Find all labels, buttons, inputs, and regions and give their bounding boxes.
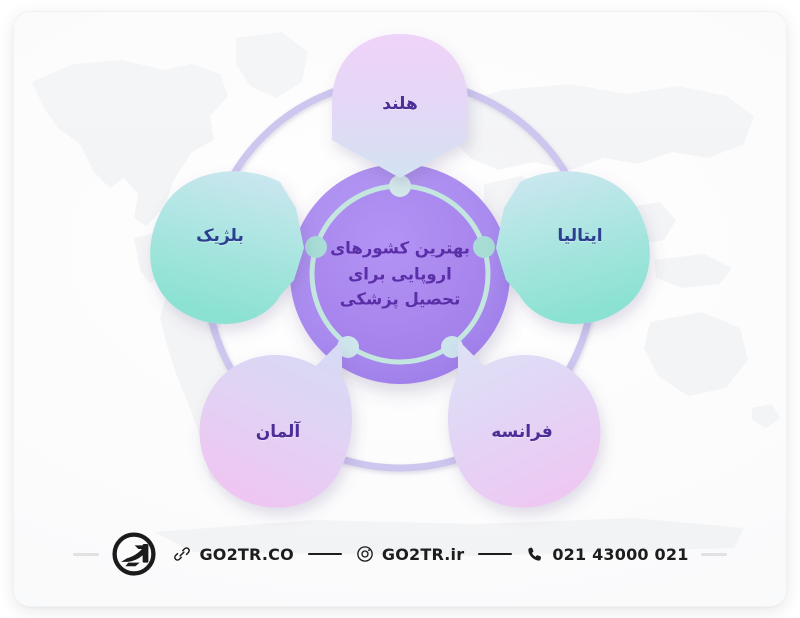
footer-rule-right	[701, 553, 727, 556]
node-netherlands[interactable]	[332, 34, 468, 178]
node-italy[interactable]	[496, 171, 650, 324]
node-germany[interactable]	[199, 340, 352, 508]
footer-item-phone[interactable]: 021 43000 021	[526, 545, 688, 564]
footer-website-text: GO2TR.CO	[199, 545, 293, 564]
vertex-dot-top	[389, 175, 411, 197]
footer-instagram-text: GO2TR.ir	[382, 545, 464, 564]
vertex-dot-left	[305, 236, 327, 258]
footer-item-instagram[interactable]: GO2TR.ir	[356, 545, 464, 564]
infographic-card: بهترین کشورهای اروپایی برای تحصیل پزشکی …	[14, 12, 786, 606]
node-france[interactable]	[448, 340, 601, 508]
footer-item-website[interactable]: GO2TR.CO	[173, 545, 293, 564]
footer-phone-text: 021 43000 021	[552, 545, 688, 564]
footer-bar: GO2TR.CO GO2TR.ir 021 43000 021	[14, 524, 786, 584]
phone-icon	[526, 545, 544, 563]
footer-separator-2	[478, 553, 512, 556]
go2tr-logo	[111, 531, 157, 577]
footer-rule-left	[73, 553, 99, 556]
pentagon-diagram	[14, 12, 786, 552]
link-icon	[173, 545, 191, 563]
instagram-icon	[356, 545, 374, 563]
infographic-canvas: بهترین کشورهای اروپایی برای تحصیل پزشکی …	[0, 0, 800, 618]
node-belgium[interactable]	[150, 171, 304, 324]
vertex-dot-right	[473, 236, 495, 258]
footer-separator-1	[308, 553, 342, 556]
